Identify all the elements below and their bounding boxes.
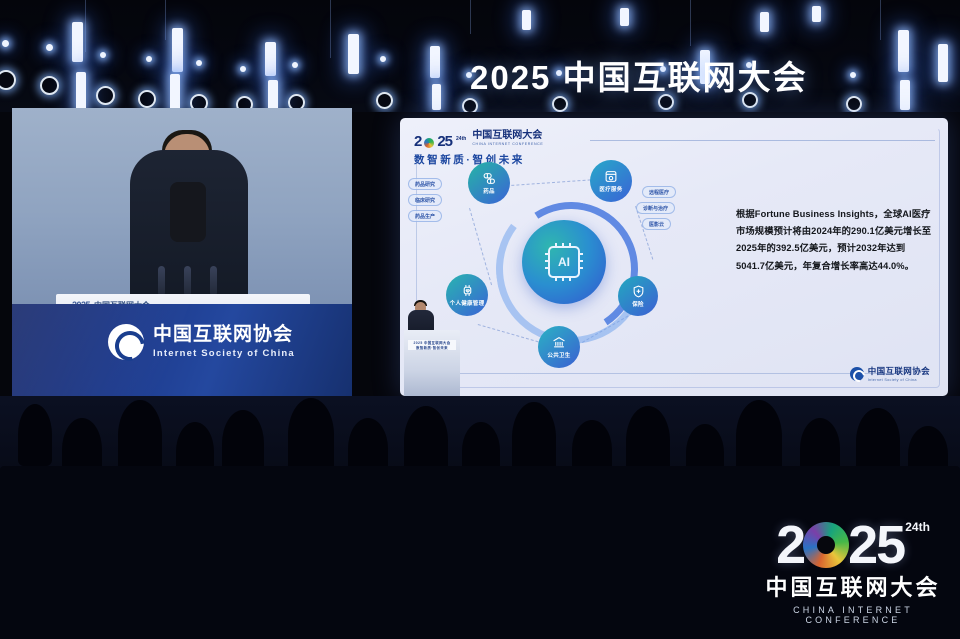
node-insurance-label: 保险 — [632, 300, 644, 308]
conference-corner-logo: 2 25 24th 中国互联网大会 CHINA INTERNET CONFERE… — [764, 518, 942, 625]
slide-header-title-en: CHINA INTERNET CONFERENCE — [472, 142, 543, 146]
slide-header-edition: 24th — [456, 136, 466, 142]
speaker-shirt — [170, 182, 206, 242]
conference-swirl-icon-large — [803, 522, 849, 568]
corner-logo-name-en: CHINA INTERNET CONFERENCE — [764, 605, 942, 625]
tag-drug-production: 药品生产 — [408, 210, 442, 222]
venue-banner: 2025 中国互联网大会 — [470, 52, 890, 98]
corner-logo-edition: 24th — [905, 521, 930, 533]
node-drug: 药品 — [468, 162, 510, 204]
isc-swoosh-icon-small — [850, 367, 864, 381]
ai-healthcare-diagram: AI — [430, 156, 720, 374]
slide-footer-org-en: Internet Society of China — [868, 378, 930, 382]
ai-chip-icon: AI — [548, 246, 580, 278]
node-medical-service: 医疗服务 — [590, 160, 632, 202]
pills-icon — [482, 172, 496, 185]
slide-footer-rule — [416, 373, 896, 374]
node-personal-health: 个人健康管理 — [446, 274, 488, 316]
slide-footer-logo: 中国互联网协会 Internet Society of China — [850, 365, 930, 382]
node-drug-label: 药品 — [483, 187, 495, 195]
tag-clinical-research: 临床研究 — [408, 194, 442, 206]
stage-podium-text: 2025 中国互联网大会 数智新质·智创未来 — [410, 341, 454, 351]
isc-logo-large: 中国互联网协会 Internet Society of China — [108, 324, 295, 360]
tag-imaging-cloud: 医影云 — [642, 218, 671, 230]
isc-name-cn: 中国互联网协会 — [153, 325, 295, 344]
institution-icon — [552, 336, 566, 349]
presentation-slide: 2 25 24th 中国互联网大会 CHINA INTERNET CONFERE… — [400, 118, 948, 396]
shield-cross-icon — [632, 285, 645, 298]
slide-header-rule — [590, 140, 935, 141]
microphone-icon — [184, 266, 191, 296]
node-personal-health-label: 个人健康管理 — [450, 299, 485, 307]
left-projection-screen: 2025 中国互联网大会 数智新质·智创未来 中国互联网协会 Internet … — [12, 108, 352, 398]
smartwatch-icon — [461, 284, 474, 297]
venue-banner-title: 2025 中国互联网大会 — [470, 51, 808, 99]
slide-header-year-rest: 25 — [437, 134, 452, 149]
corner-logo-year: 2 25 24th — [764, 518, 942, 572]
node-public-health: 公共卫生 — [538, 326, 580, 368]
tag-drug-research: 药品研究 — [408, 178, 442, 190]
node-insurance: 保险 — [618, 276, 658, 316]
medical-record-icon — [604, 170, 618, 183]
tag-telemedicine: 远程医疗 — [642, 186, 676, 198]
slide-header-title-cn: 中国互联网大会 — [472, 126, 543, 141]
tag-diagnosis-treatment: 诊断与治疗 — [636, 202, 675, 214]
conference-stage-photo: 2025 中国互联网大会 2025 中国互联网大会 数智新质·智创未来 中国互联… — [0, 0, 960, 639]
node-ai-core: AI — [522, 220, 606, 304]
slide-header-year: 2 — [414, 134, 421, 149]
conference-swirl-icon — [424, 138, 434, 148]
speaker-video-feed — [12, 108, 352, 304]
node-medical-service-label: 医疗服务 — [599, 185, 622, 193]
isc-name-en: Internet Society of China — [153, 348, 295, 359]
isc-swoosh-icon — [108, 324, 144, 360]
slide-body-text: 根据Fortune Business Insights，全球AI医疗市场规模预计… — [736, 206, 932, 275]
node-public-health-label: 公共卫生 — [547, 351, 570, 359]
microphone-icon — [210, 266, 217, 296]
slide-footer-org-cn: 中国互联网协会 — [868, 365, 930, 377]
microphone-icon — [158, 266, 165, 296]
